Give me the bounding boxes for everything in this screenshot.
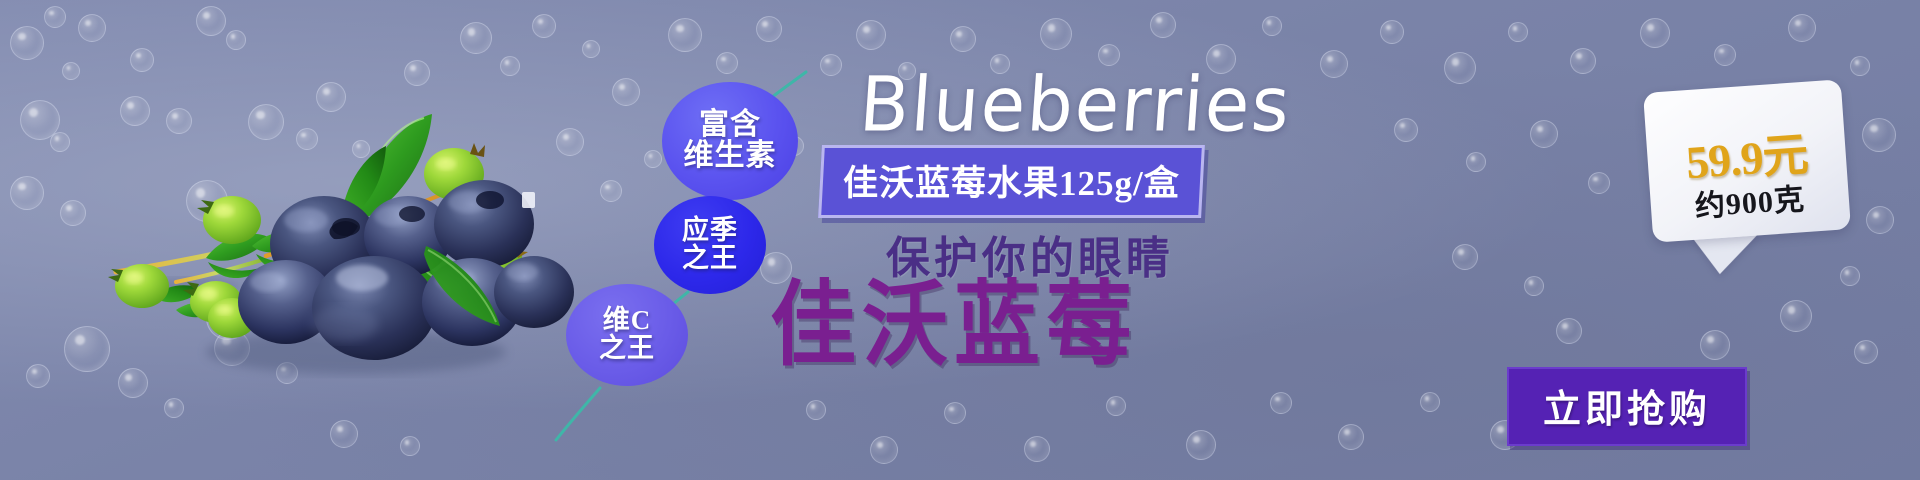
bubble-icon [1862, 118, 1896, 152]
bubble-icon [500, 56, 520, 76]
bubble-icon [1640, 18, 1670, 48]
bubble-icon [1866, 206, 1894, 234]
badge-season-line2: 之王 [682, 245, 738, 273]
buy-now-label: 立即抢购 [1543, 389, 1711, 431]
bubble-icon [612, 78, 640, 106]
bubble-icon [644, 150, 662, 168]
bubble-icon [1452, 244, 1478, 270]
badge-season-line1: 应季 [682, 217, 738, 245]
badge-rich-in-vitamins[interactable]: 富含 维生素 [662, 82, 798, 200]
bubble-icon [1700, 330, 1730, 360]
bubble-icon [582, 40, 600, 58]
bubble-icon [1150, 12, 1176, 38]
headline-english: Blueberries [857, 60, 1294, 148]
bubble-icon [1040, 18, 1072, 50]
bubble-icon [20, 100, 60, 140]
bubble-icon [330, 420, 358, 448]
bubble-icon [10, 176, 44, 210]
bubble-icon [1588, 172, 1610, 194]
badge-vc-line2: 之王 [599, 335, 655, 363]
badge-vc-line1: 维C [603, 307, 652, 335]
bubble-icon [820, 54, 842, 76]
bubble-icon [130, 48, 154, 72]
promo-banner: 富含 维生素 应季 之王 维C 之王 Blueberries 佳沃蓝莓水果125… [0, 0, 1920, 480]
bubble-icon [1788, 14, 1816, 42]
bubble-icon [1840, 266, 1860, 286]
bubble-icon [1570, 48, 1596, 74]
bubble-icon [78, 14, 106, 42]
bubble-icon [716, 52, 738, 74]
bubble-icon [806, 400, 826, 420]
bubble-icon [10, 26, 44, 60]
bubble-icon [1338, 424, 1364, 450]
bubble-icon [460, 22, 492, 54]
bubble-icon [1186, 430, 1216, 460]
bubble-icon [62, 62, 80, 80]
bubble-icon [944, 402, 966, 424]
bubble-icon [1106, 396, 1126, 416]
brand-title: 佳沃蓝莓 [770, 279, 1138, 372]
blueberry-cluster-photo [56, 96, 576, 396]
bubble-icon [226, 30, 246, 50]
badge-king-of-season[interactable]: 应季 之王 [654, 196, 766, 294]
bubble-icon [1024, 436, 1050, 462]
bubble-icon [756, 16, 782, 42]
bubble-icon [856, 20, 886, 50]
bubble-icon [404, 60, 430, 86]
bubble-icon [1530, 120, 1558, 148]
bubble-icon [1466, 152, 1486, 172]
price-speech-bubble: 59.9元 约900克 [1643, 79, 1851, 242]
bubble-icon [1556, 318, 1582, 344]
bubble-icon [1394, 118, 1418, 142]
bubble-icon [1850, 56, 1870, 76]
bubble-icon [1780, 300, 1812, 332]
bubble-icon [668, 18, 702, 52]
bubble-icon [1380, 20, 1404, 44]
bubble-icon [950, 26, 976, 52]
bubble-icon [196, 6, 226, 36]
bubble-icon [1320, 50, 1348, 78]
badge-vitamin-line1: 富含 [699, 110, 761, 141]
bubble-icon [1270, 392, 1292, 414]
product-name-box: 佳沃蓝莓水果125g/盒 [818, 145, 1205, 218]
badge-king-of-vitamin-c[interactable]: 维C 之王 [566, 284, 688, 386]
bubble-icon [1508, 22, 1528, 42]
bubble-icon [44, 6, 66, 28]
bubble-icon [26, 364, 50, 388]
product-name-text: 佳沃蓝莓水果125g/盒 [843, 155, 1180, 206]
bubble-icon [1714, 44, 1736, 66]
buy-now-button[interactable]: 立即抢购 [1507, 367, 1747, 446]
bubble-icon [164, 398, 184, 418]
bubble-icon [870, 436, 898, 464]
bubble-icon [1524, 276, 1544, 296]
bubble-icon [1262, 16, 1282, 36]
bubble-icon [1444, 52, 1476, 84]
bubble-icon [1420, 392, 1440, 412]
bubble-icon [1854, 340, 1878, 364]
badge-vitamin-line2: 维生素 [684, 141, 777, 172]
bubble-icon [532, 14, 556, 38]
bubble-icon [400, 436, 420, 456]
bubble-icon [600, 180, 622, 202]
